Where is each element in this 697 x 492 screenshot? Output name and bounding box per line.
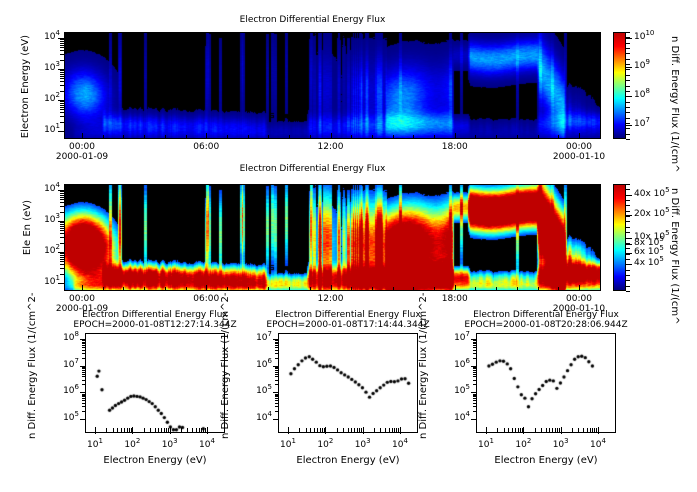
- spectrum-3-xtick-minor: [549, 428, 550, 433]
- spectrum-3-xtick-minor: [518, 428, 519, 433]
- spectrum-3-xtick: 102: [505, 440, 541, 450]
- spectrum-1-xtick-minor: [121, 428, 122, 433]
- top-xtick-minor: [372, 135, 373, 139]
- spectrum-3-xtick-mark: [486, 427, 487, 434]
- spectrum-2-ytick-minor: [275, 372, 279, 373]
- spectrum-2-xtick-minor: [389, 428, 390, 433]
- spectrum-1-ytick-minor: [82, 353, 86, 354]
- spectrum-3-ytick-minor: [473, 345, 477, 346]
- top-xtick-label: 00:00: [557, 142, 601, 152]
- spectrum-2-xtick-mark: [288, 427, 289, 434]
- spectrum-1-xtick-mark: [207, 427, 208, 434]
- top-cbtick-minor: [626, 43, 630, 44]
- spectrum-1-ytick: 108: [45, 333, 79, 343]
- middle-cbtick-minor: [626, 259, 630, 260]
- top-xtick-label: 06:00: [184, 142, 228, 152]
- spectrum-1-ytick-minor: [82, 340, 86, 341]
- top-cbtick-minor: [626, 107, 630, 108]
- spectrum-3-xtick-minor: [596, 428, 597, 433]
- spectrum-2-ytick-minor: [275, 350, 279, 351]
- middle-cbtick-label: 40x 105: [634, 189, 670, 199]
- spectrum-3-ytick-minor: [473, 347, 477, 348]
- spectrum-3-ytick-minor: [473, 394, 477, 395]
- middle-panel-title: Electron Differential Energy Flux: [0, 164, 625, 174]
- spectrum-2-xtick-minor: [324, 428, 325, 433]
- middle-xtick-minor: [393, 287, 394, 291]
- middle-xtick-minor: [331, 287, 332, 291]
- middle-xtick-minor: [579, 287, 580, 291]
- top-cbtick-minor: [626, 48, 630, 49]
- spectrum-2-ytick-minor: [275, 406, 279, 407]
- spectrum-2-xtick-minor: [396, 428, 397, 433]
- spectrum-3-xlabel: Electron Energy (eV): [446, 455, 646, 466]
- top-cbtick-label: 109: [634, 61, 650, 71]
- spectrum-3-ytick-minor: [473, 384, 477, 385]
- spectrum-2-xtick-minor: [357, 428, 358, 433]
- spectrum-1-xtick-minor: [106, 428, 107, 433]
- top-panel-colorbar-label: n Diff. Energy Flux (1/(cm^: [669, 36, 680, 173]
- spectrum-1-xtick-minor: [203, 428, 204, 433]
- top-xtick-label: 12:00: [309, 142, 353, 152]
- spectrum-3-xtick-minor: [535, 428, 536, 433]
- middle-panel-colorbar: [613, 184, 626, 291]
- middle-xtick-minor: [248, 287, 249, 291]
- spectrum-1-xtick-minor: [168, 428, 169, 433]
- spectrum-2-xtick-minor: [317, 428, 318, 433]
- spectrum-3-xtick-minor: [557, 428, 558, 433]
- spectrum-2-xtick-minor: [354, 428, 355, 433]
- top-cbtick-minor: [626, 134, 630, 135]
- spectrum-2-plot: [278, 333, 418, 433]
- spectrum-3-ytick-minor: [473, 372, 477, 373]
- spectrum-1-xtick: 102: [114, 440, 150, 450]
- spectrum-3-ytick-minor: [473, 374, 477, 375]
- spectrum-2-ytick-minor: [275, 358, 279, 359]
- spectrum-1-xtick-mark: [95, 427, 96, 434]
- spectrum-1-xtick-minor: [117, 428, 118, 433]
- top-panel-ylabel: Electron Energy (eV): [20, 35, 31, 138]
- middle-xtick-minor: [496, 287, 497, 291]
- top-cbtick-minor: [626, 128, 630, 129]
- top-xtick-minor: [82, 135, 83, 139]
- top-xtick-minor: [123, 135, 124, 139]
- spectrum-3-xtick-mark: [598, 427, 599, 434]
- spectrum-2-ytick-mark: [273, 419, 279, 420]
- top-xtick-minor: [289, 135, 290, 139]
- spectrum-1-xtick-minor: [113, 428, 114, 433]
- spectrum-1-ytick-minor: [82, 396, 86, 397]
- top-xtick-minor: [165, 135, 166, 139]
- middle-xtick-minor: [538, 287, 539, 291]
- middle-panel-colorbar-label: n Diff. Energy Flux (1/(cm^: [669, 188, 680, 325]
- spectrum-3-subtitle: EPOCH=2000-01-08T20:28:06.944Z: [404, 320, 688, 330]
- spectrum-3-ytick-minor: [473, 353, 477, 354]
- spectrum-1-ytick: 105: [45, 413, 79, 423]
- spectrum-1-xtick-minor: [187, 428, 188, 433]
- spectrum-1-ytick-minor: [82, 376, 86, 377]
- spectrum-1-ytick-minor: [82, 358, 86, 359]
- top-xtick-minor: [579, 135, 580, 139]
- spectrum-2-ytick-minor: [275, 394, 279, 395]
- spectrum-3-xtick-minor: [515, 428, 516, 433]
- spectrum-1-ytick-minor: [82, 374, 86, 375]
- spectrum-1-xtick-minor: [192, 428, 193, 433]
- spectrum-3-xtick-minor: [592, 428, 593, 433]
- spectrum-2-canvas: [279, 334, 417, 432]
- spectrum-2-xtick-mark: [400, 427, 401, 434]
- spectrum-3-ylabel: n Diff. Energy Flux (1/(cm^2-: [418, 292, 429, 439]
- spectrum-3-ytick-minor: [473, 406, 477, 407]
- spectrum-3-xtick-minor: [520, 428, 521, 433]
- middle-xtick-minor: [475, 287, 476, 291]
- top-xtick-minor: [186, 135, 187, 139]
- top-xtick-minor: [413, 135, 414, 139]
- spectrum-3-ytick-minor: [473, 398, 477, 399]
- spectrum-3-xtick-minor: [555, 428, 556, 433]
- top-xtick-minor: [310, 135, 311, 139]
- middle-cbtick-minor: [626, 189, 630, 190]
- top-xtick-minor: [103, 135, 104, 139]
- spectrum-1-ytick-minor: [82, 345, 86, 346]
- middle-xtick-minor: [413, 287, 414, 291]
- top-cbtick-minor: [626, 53, 630, 54]
- top-cbtick-minor: [626, 64, 630, 65]
- middle-cbtick-label: 4x 105: [634, 258, 664, 268]
- spectrum-3-ytick-minor: [473, 380, 477, 381]
- middle-cbtick-minor: [626, 184, 630, 185]
- spectrum-2-xtick-minor: [398, 428, 399, 433]
- spectrum-3-xtick-minor: [587, 428, 588, 433]
- spectrum-1-xtick-minor: [199, 428, 200, 433]
- top-cbtick-mark: [626, 125, 632, 126]
- middle-cbtick-minor: [626, 211, 630, 212]
- spectrum-3-xtick-minor: [594, 428, 595, 433]
- top-ytick-3: 103: [30, 63, 60, 73]
- spectrum-3-xtick-mark: [561, 427, 562, 434]
- middle-cbtick-minor: [626, 286, 630, 287]
- middle-panel-colorbar-label-wrap: n Diff. Energy Flux (1/(cm^: [680, 188, 697, 199]
- spectrum-1-ytick-minor: [82, 370, 86, 371]
- spectrum-2-xtick-minor: [374, 428, 375, 433]
- middle-panel-spectrogram: [64, 184, 601, 291]
- middle-xtick-label: 00:00: [60, 294, 104, 304]
- spectrum-1-xtick-minor: [205, 428, 206, 433]
- top-xtick-minor: [455, 135, 456, 139]
- spectrum-2-ytick-minor: [275, 398, 279, 399]
- middle-cbtick-minor: [626, 254, 630, 255]
- top-xtick-date: 2000-01-10: [547, 152, 611, 162]
- spectrum-3-ytick-minor: [473, 411, 477, 412]
- top-xtick-label: 00:00: [60, 142, 104, 152]
- spectrum-1-xlabel: Electron Energy (eV): [55, 455, 255, 466]
- middle-ytick-3: 103: [30, 215, 60, 225]
- spectrum-2-xtick-minor: [322, 428, 323, 433]
- spectrum-1-ytick-minor: [82, 342, 86, 343]
- middle-cbtick-minor: [626, 221, 630, 222]
- spectrum-2-xtick-minor: [385, 428, 386, 433]
- spectrum-1-ytick-mark: [80, 419, 86, 420]
- middle-xtick-minor: [351, 287, 352, 291]
- spectrum-1-ytick-minor: [82, 411, 86, 412]
- middle-cbtick-minor: [626, 291, 630, 292]
- top-cbtick-minor: [626, 32, 630, 33]
- spectrum-1-ytick-minor: [82, 384, 86, 385]
- spectrum-2-xtick-minor: [314, 428, 315, 433]
- top-cbtick-minor: [626, 69, 630, 70]
- spectrum-2-ytick-minor: [275, 376, 279, 377]
- top-cbtick-minor: [626, 91, 630, 92]
- spectrum-2-xtick-mark: [363, 427, 364, 434]
- spectrum-2-ytick-minor: [275, 396, 279, 397]
- spectrum-3-ytick-minor: [473, 395, 477, 396]
- spectrum-3-xtick-mark: [523, 427, 524, 434]
- spectrum-1-ytick-minor: [82, 398, 86, 399]
- spectrum-3-title: Electron Differential Energy Flux: [404, 310, 688, 320]
- top-xtick-minor: [268, 135, 269, 139]
- spectrum-2-xtick: 101: [270, 440, 306, 450]
- middle-cbtick-minor: [626, 264, 630, 265]
- spectrum-1-ytick-minor: [82, 368, 86, 369]
- spectrum-1-ytick-minor: [82, 394, 86, 395]
- spectrum-3-ytick-minor: [473, 396, 477, 397]
- spectrum-3-xtick-minor: [559, 428, 560, 433]
- top-cbtick-label: 1010: [634, 32, 654, 42]
- spectrum-2-xtick: 103: [345, 440, 381, 450]
- middle-xtick-minor: [372, 287, 373, 291]
- spectrum-3-xtick-minor: [512, 428, 513, 433]
- spectrum-2-xtick-minor: [337, 428, 338, 433]
- spectrum-3-xtick-minor: [552, 428, 553, 433]
- spectrum-1-ytick-minor: [82, 380, 86, 381]
- middle-cbtick-minor: [626, 205, 630, 206]
- spectrum-3-xtick-minor: [541, 428, 542, 433]
- middle-xtick-label: 18:00: [433, 294, 477, 304]
- spectrum-2-ytick-minor: [275, 411, 279, 412]
- spectrum-2-xtick-minor: [359, 428, 360, 433]
- spectrum-2-ytick-minor: [275, 347, 279, 348]
- spectrum-2-xtick-minor: [320, 428, 321, 433]
- spectrum-1-ytick-minor: [82, 395, 86, 396]
- middle-xtick-minor: [310, 287, 311, 291]
- spectrum-1-ytick-minor: [82, 347, 86, 348]
- spectrum-1-xtick-minor: [201, 428, 202, 433]
- spectrum-3-xtick-minor: [572, 428, 573, 433]
- top-panel-title: Electron Differential Energy Flux: [0, 15, 625, 25]
- middle-xtick-minor: [82, 287, 83, 291]
- top-xtick-minor: [248, 135, 249, 139]
- middle-ytick-1: 101: [30, 277, 60, 287]
- top-cbtick-minor: [626, 80, 630, 81]
- spectrum-1-ytick: 107: [45, 360, 79, 370]
- spectrum-1-ytick: 106: [45, 386, 79, 396]
- spectrum-3-xtick: 101: [468, 440, 504, 450]
- spectrum-2-ytick-minor: [275, 403, 279, 404]
- middle-xtick-minor: [517, 287, 518, 291]
- top-cbtick-minor: [626, 112, 630, 113]
- top-ytick-4: 104: [30, 32, 60, 42]
- spectrum-1-xtick-mark: [170, 427, 171, 434]
- middle-cbtick-minor: [626, 232, 630, 233]
- middle-cbtick-minor: [626, 270, 630, 271]
- spectrum-1-xtick: 103: [152, 440, 188, 450]
- spectrum-3-xtick-minor: [497, 428, 498, 433]
- spectrum-3-xtick: 103: [543, 440, 579, 450]
- top-cbtick-minor: [626, 118, 630, 119]
- middle-cbtick-minor: [626, 227, 630, 228]
- spectrum-3-ytick-minor: [473, 403, 477, 404]
- top-ytick-1: 101: [30, 125, 60, 135]
- figure-root: Electron Differential Energy Flux Electr…: [0, 0, 697, 492]
- middle-ytick-2: 102: [30, 246, 60, 256]
- spectrum-2-xtick-minor: [351, 428, 352, 433]
- spectrum-1-xtick-minor: [124, 428, 125, 433]
- spectrum-1-xtick-minor: [161, 428, 162, 433]
- middle-xtick-label: 12:00: [309, 294, 353, 304]
- spectrum-2-xtick-minor: [380, 428, 381, 433]
- top-cbtick-label: 108: [634, 90, 650, 100]
- spectrum-1-ytick-minor: [82, 343, 86, 344]
- spectrum-1-ytick-minor: [82, 403, 86, 404]
- spectrum-1-xtick-minor: [181, 428, 182, 433]
- spectrum-3-canvas: [477, 334, 615, 432]
- spectrum-3-ytick-minor: [473, 400, 477, 401]
- spectrum-1-xtick-mark: [132, 427, 133, 434]
- spectrum-3-xtick-minor: [590, 428, 591, 433]
- spectrum-2-xtick: 104: [382, 440, 418, 450]
- spectrum-3-ytick: 107: [436, 333, 470, 343]
- spectrum-2-ytick: 104: [238, 413, 272, 423]
- middle-cbtick-minor: [626, 243, 630, 244]
- spectrum-2-ytick-minor: [275, 345, 279, 346]
- spectrum-1-xtick-minor: [129, 428, 130, 433]
- spectrum-2-xtick-minor: [306, 428, 307, 433]
- top-cbtick-minor: [626, 37, 630, 38]
- spectrum-3-ytick-minor: [473, 342, 477, 343]
- top-xtick-minor: [475, 135, 476, 139]
- spectrum-3-ytick: 104: [436, 413, 470, 423]
- spectrum-3-xtick: 104: [580, 440, 616, 450]
- middle-xtick-minor: [455, 287, 456, 291]
- middle-cbtick-minor: [626, 200, 630, 201]
- middle-cbtick-minor: [626, 195, 630, 196]
- top-panel-colorbar-label-wrap: n Diff. Energy Flux (1/(cm^: [680, 36, 697, 47]
- spectrum-2-ytick-minor: [275, 380, 279, 381]
- spectrum-2-ytick-minor: [275, 340, 279, 341]
- spectrum-3-ytick: 106: [436, 360, 470, 370]
- spectrum-1-ylabel: n Diff. Energy Flux (1/(cm^2-: [27, 292, 38, 439]
- top-xtick-minor: [227, 135, 228, 139]
- middle-xtick-minor: [165, 287, 166, 291]
- top-xtick-minor: [206, 135, 207, 139]
- top-cbtick-mark: [626, 38, 632, 39]
- spectrum-3-ytick-minor: [473, 368, 477, 369]
- spectrum-3-xtick-minor: [578, 428, 579, 433]
- spectrum-2-ytick-minor: [275, 384, 279, 385]
- top-xtick-minor: [331, 135, 332, 139]
- top-cbtick-label: 107: [634, 119, 650, 129]
- middle-xtick-minor: [268, 287, 269, 291]
- top-panel-colorbar: [613, 32, 626, 139]
- spectrum-1-xtick-minor: [144, 428, 145, 433]
- spectrum-3-ytick: 105: [436, 386, 470, 396]
- top-xtick-minor: [434, 135, 435, 139]
- spectrum-3-ytick-minor: [473, 370, 477, 371]
- spectrum-1-xtick-minor: [127, 428, 128, 433]
- middle-xtick-label: 00:00: [557, 294, 601, 304]
- middle-cbtick-label: 20x 105: [634, 209, 670, 219]
- spectrum-1-xtick-minor: [131, 428, 132, 433]
- spectrum-3-xtick-minor: [546, 428, 547, 433]
- spectrum-1-ytick-minor: [82, 406, 86, 407]
- top-cbtick-minor: [626, 102, 630, 103]
- spectrum-3-xtick-minor: [583, 428, 584, 433]
- spectrum-2-xtick-minor: [392, 428, 393, 433]
- spectrum-2-ytick-minor: [275, 370, 279, 371]
- spectrum-2-ytick: 106: [238, 360, 272, 370]
- top-cbtick-minor: [626, 75, 630, 76]
- top-cbtick-minor: [626, 96, 630, 97]
- middle-cbtick-minor: [626, 238, 630, 239]
- middle-cbtick-minor: [626, 216, 630, 217]
- spectrum-1-xtick-minor: [155, 428, 156, 433]
- middle-xtick-minor: [227, 287, 228, 291]
- spectrum-3-ytick-minor: [473, 343, 477, 344]
- spectrum-3-ytick-minor: [473, 350, 477, 351]
- middle-xtick-minor: [434, 287, 435, 291]
- middle-xtick-minor: [206, 287, 207, 291]
- spectrum-2-ytick-minor: [275, 400, 279, 401]
- spectrum-3-xtick-minor: [522, 428, 523, 433]
- spectrum-1-ytick-minor: [82, 367, 86, 368]
- spectrum-2-ytick-minor: [275, 342, 279, 343]
- spectrum-1-ytick-minor: [82, 350, 86, 351]
- top-xtick-minor: [496, 135, 497, 139]
- top-cbtick-minor: [626, 139, 630, 140]
- spectrum-2-ytick: 105: [238, 386, 272, 396]
- spectrum-1-xtick-minor: [196, 428, 197, 433]
- spectrum-1-xtick-minor: [166, 428, 167, 433]
- top-ytick-2: 102: [30, 94, 60, 104]
- spectrum-3-xtick-minor: [504, 428, 505, 433]
- spectrum-2-ytick: 107: [238, 333, 272, 343]
- spectrum-3-ytick-mark: [471, 419, 477, 420]
- spectrum-1-canvas: [86, 334, 224, 432]
- middle-xtick-minor: [186, 287, 187, 291]
- spectrum-3-ytick-minor: [473, 340, 477, 341]
- spectrum-1-xtick-minor: [150, 428, 151, 433]
- spectrum-2-xtick-minor: [348, 428, 349, 433]
- spectrum-2-xtick-minor: [361, 428, 362, 433]
- spectrum-3-ytick-minor: [473, 376, 477, 377]
- top-xtick-date: 2000-01-09: [50, 152, 114, 162]
- spectrum-2-xtick-minor: [299, 428, 300, 433]
- spectrum-1-ytick-minor: [82, 400, 86, 401]
- top-xtick-minor: [558, 135, 559, 139]
- spectrum-3-ytick-minor: [473, 358, 477, 359]
- spectrum-2-xtick: 102: [307, 440, 343, 450]
- top-xtick-minor: [538, 135, 539, 139]
- top-cbtick-mark: [626, 67, 632, 68]
- spectrum-2-xtick-minor: [343, 428, 344, 433]
- spectrum-2-ytick-minor: [275, 395, 279, 396]
- middle-cbtick-minor: [626, 280, 630, 281]
- top-xtick-minor: [393, 135, 394, 139]
- middle-xtick-minor: [144, 287, 145, 291]
- middle-cbtick-minor: [626, 275, 630, 276]
- spectrum-3-ytick-minor: [473, 367, 477, 368]
- spectrum-1-xtick-minor: [164, 428, 165, 433]
- spectrum-2-ytick-minor: [275, 374, 279, 375]
